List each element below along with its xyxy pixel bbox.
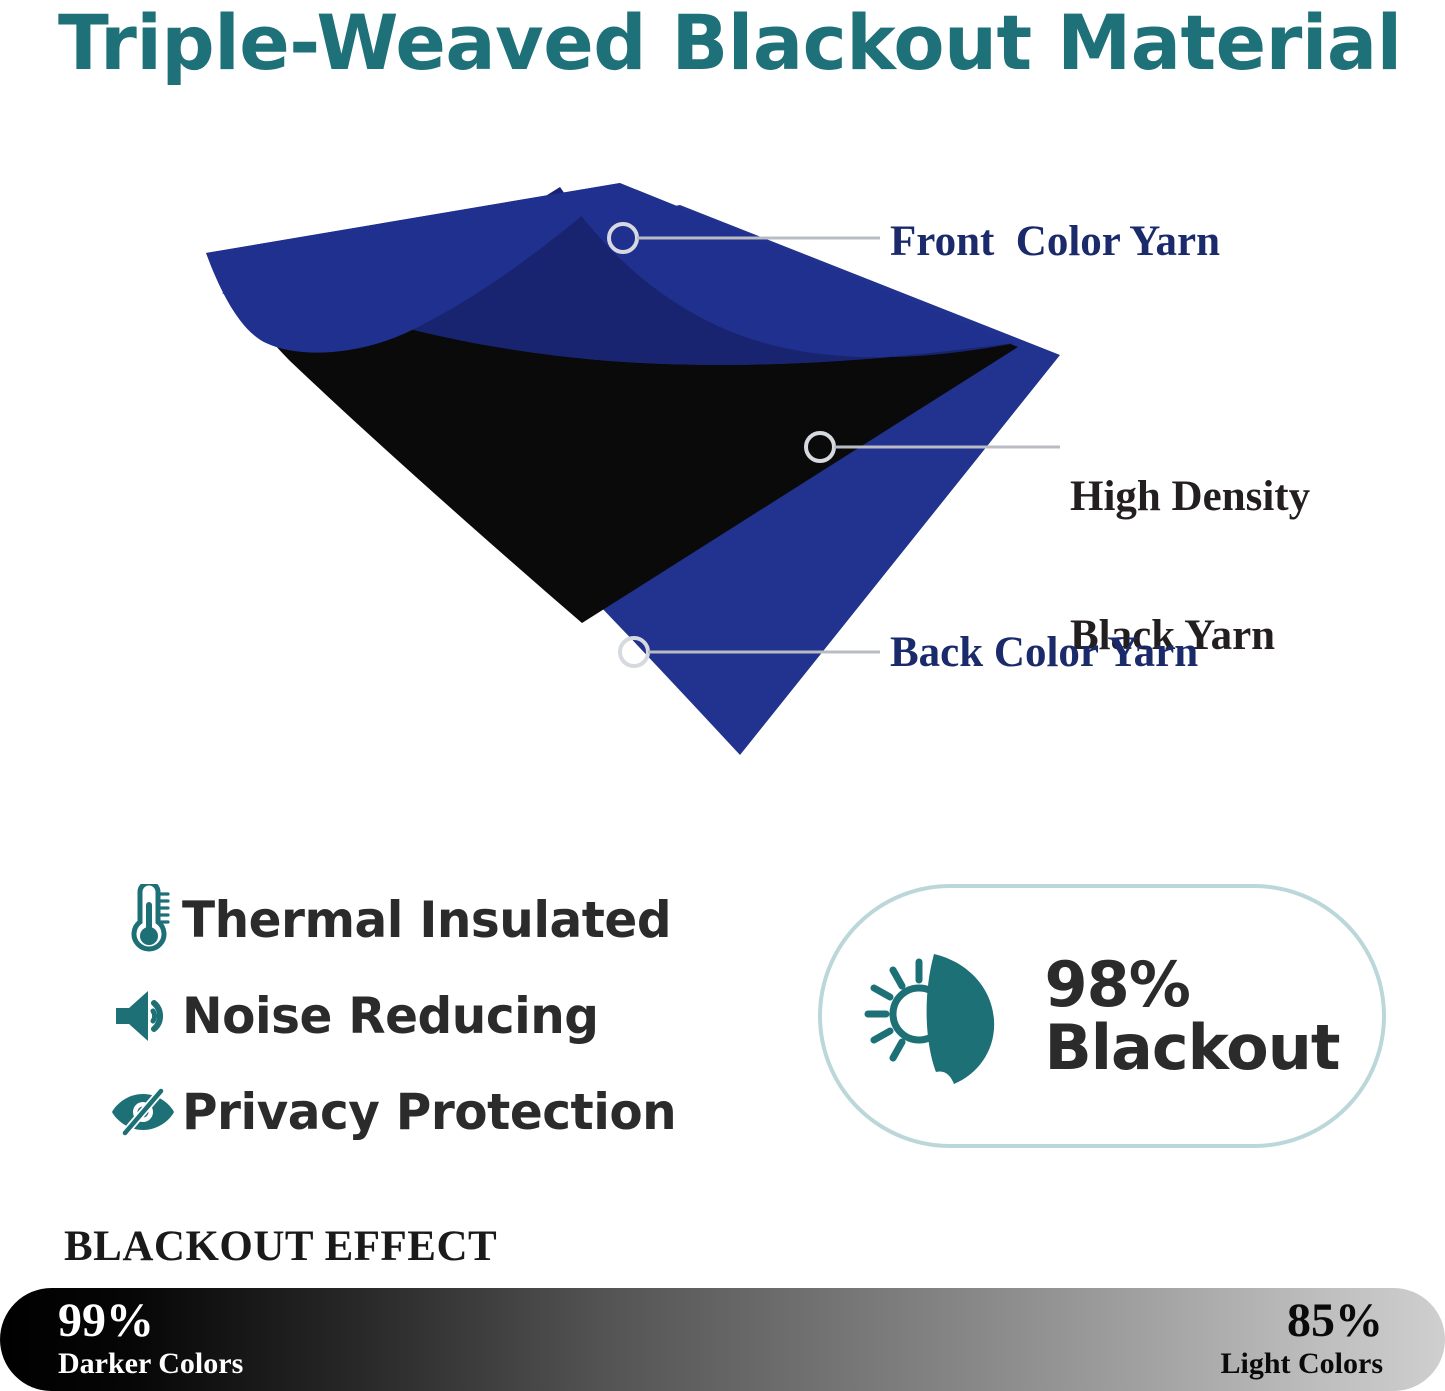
- callout-front-color-yarn: Front Color Yarn: [890, 219, 1220, 265]
- feature-label: Thermal Insulated: [182, 891, 671, 949]
- blackout-effect-gradient-bar: 99% Darker Colors 85% Light Colors: [0, 1288, 1445, 1391]
- blackout-badge-text: 98% Blackout: [1044, 953, 1339, 1079]
- blackout-effect-light-colors: 85% Light Colors: [1220, 1288, 1383, 1391]
- callout-high-density-black-yarn: High Density Black Yarn: [1070, 381, 1310, 753]
- callout-back-color-yarn: Back Color Yarn: [890, 630, 1198, 676]
- blackout-label: Blackout: [1044, 1016, 1339, 1079]
- blackout-badge: 98% Blackout: [818, 884, 1386, 1148]
- infographic-page: Triple-Weaved Blackout Material: [0, 0, 1445, 1391]
- blackout-effect-title: BLACKOUT EFFECT: [64, 1222, 497, 1271]
- feature-noise-reducing: Noise Reducing: [104, 968, 744, 1064]
- features-list: Thermal Insulated Noise Reducing: [104, 872, 744, 1160]
- callout-line-1: High Density: [1070, 474, 1310, 520]
- thermometer-icon: [104, 884, 182, 956]
- light-colors-label: Light Colors: [1220, 1347, 1383, 1382]
- sun-behind-curtain-icon: [864, 936, 1014, 1096]
- darker-colors-label: Darker Colors: [58, 1347, 243, 1382]
- feature-label: Privacy Protection: [182, 1083, 676, 1141]
- light-colors-percent: 85%: [1287, 1297, 1383, 1345]
- blackout-percent: 98%: [1044, 953, 1339, 1016]
- speaker-icon: [104, 987, 182, 1045]
- feature-label: Noise Reducing: [182, 987, 599, 1045]
- eye-slash-icon: [104, 1088, 182, 1136]
- blackout-effect-darker-colors: 99% Darker Colors: [58, 1288, 243, 1391]
- front-color-yarn-layer: [206, 183, 1016, 365]
- feature-thermal-insulated: Thermal Insulated: [104, 872, 744, 968]
- page-title: Triple-Weaved Blackout Material: [58, 0, 1371, 88]
- darker-colors-percent: 99%: [58, 1297, 154, 1345]
- feature-privacy-protection: Privacy Protection: [104, 1064, 744, 1160]
